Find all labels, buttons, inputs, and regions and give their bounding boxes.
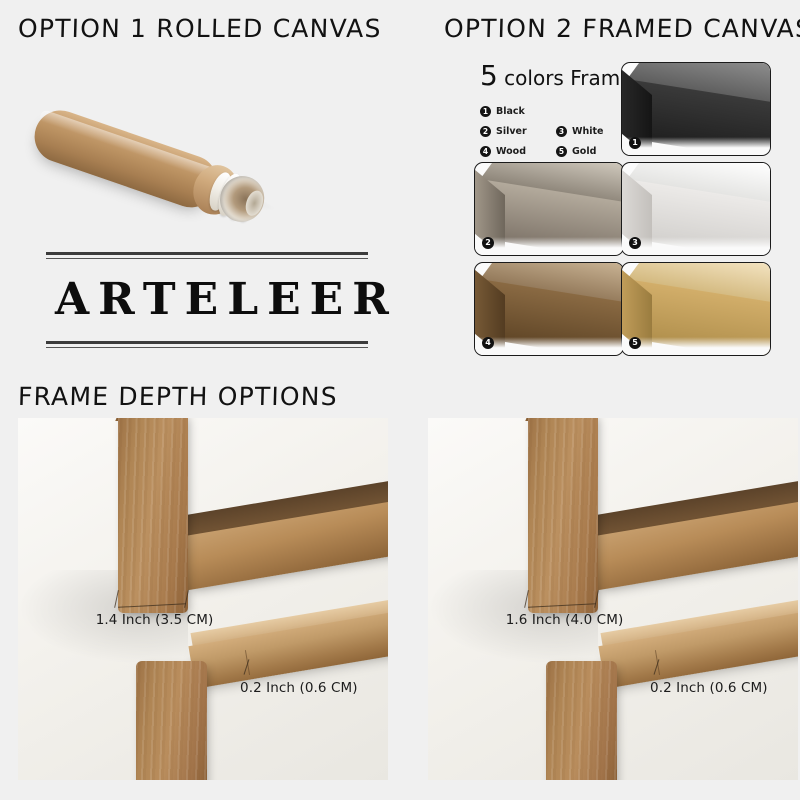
frame-sample-silver[interactable]: 2: [474, 162, 624, 256]
frame-bar-vertical: [528, 418, 598, 613]
frame-depth-title: FRAME DEPTH OPTIONS: [18, 382, 339, 411]
frame-sample-black[interactable]: 1: [621, 62, 771, 156]
infographic-page: OPTION 1 ROLLED CANVAS ARTELEER OPTION 2…: [0, 0, 800, 800]
option2-title: OPTION 2 FRAMED CANVAS: [444, 14, 800, 43]
frame-depth-photo-deep: 1.6 Inch (4.0 CM) 0.2 Inch (0.6 CM): [428, 418, 798, 780]
tube-graphic: [23, 90, 281, 245]
panel-number-5: 5: [629, 337, 641, 349]
brand-name: ARTELEER: [46, 278, 368, 322]
frame-color-samples: 1 2 3: [474, 62, 794, 360]
frame-sample-wood[interactable]: 4: [474, 262, 624, 356]
panel-number-1: 1: [629, 137, 641, 149]
option1-title: OPTION 1 ROLLED CANVAS: [18, 14, 382, 43]
rolled-canvas-tube-image: [30, 58, 290, 203]
panel-number-2: 2: [482, 237, 494, 249]
depth-dimension-label: 1.4 Inch (3.5 CM): [96, 612, 214, 628]
panel-number-3: 3: [629, 237, 641, 249]
panel-number-4: 4: [482, 337, 494, 349]
frame-bar-vertical: [118, 418, 188, 613]
brand-rule-top: [46, 252, 368, 259]
brand-rule-bottom: [46, 341, 368, 348]
brand-plate: ARTELEER: [46, 252, 368, 348]
frame-depth-photo-standard: 1.4 Inch (3.5 CM) 0.2 Inch (0.6 CM): [18, 418, 388, 780]
frame-sample-gold[interactable]: 5: [621, 262, 771, 356]
frame-bar-vertical-lower: [546, 661, 616, 780]
frame-sample-white[interactable]: 3: [621, 162, 771, 256]
depth-dimension-label: 1.6 Inch (4.0 CM): [506, 612, 624, 628]
thickness-dimension-label: 0.2 Inch (0.6 CM): [650, 680, 768, 696]
frame-bar-vertical-lower: [136, 661, 206, 780]
thickness-dimension-label: 0.2 Inch (0.6 CM): [240, 680, 358, 696]
